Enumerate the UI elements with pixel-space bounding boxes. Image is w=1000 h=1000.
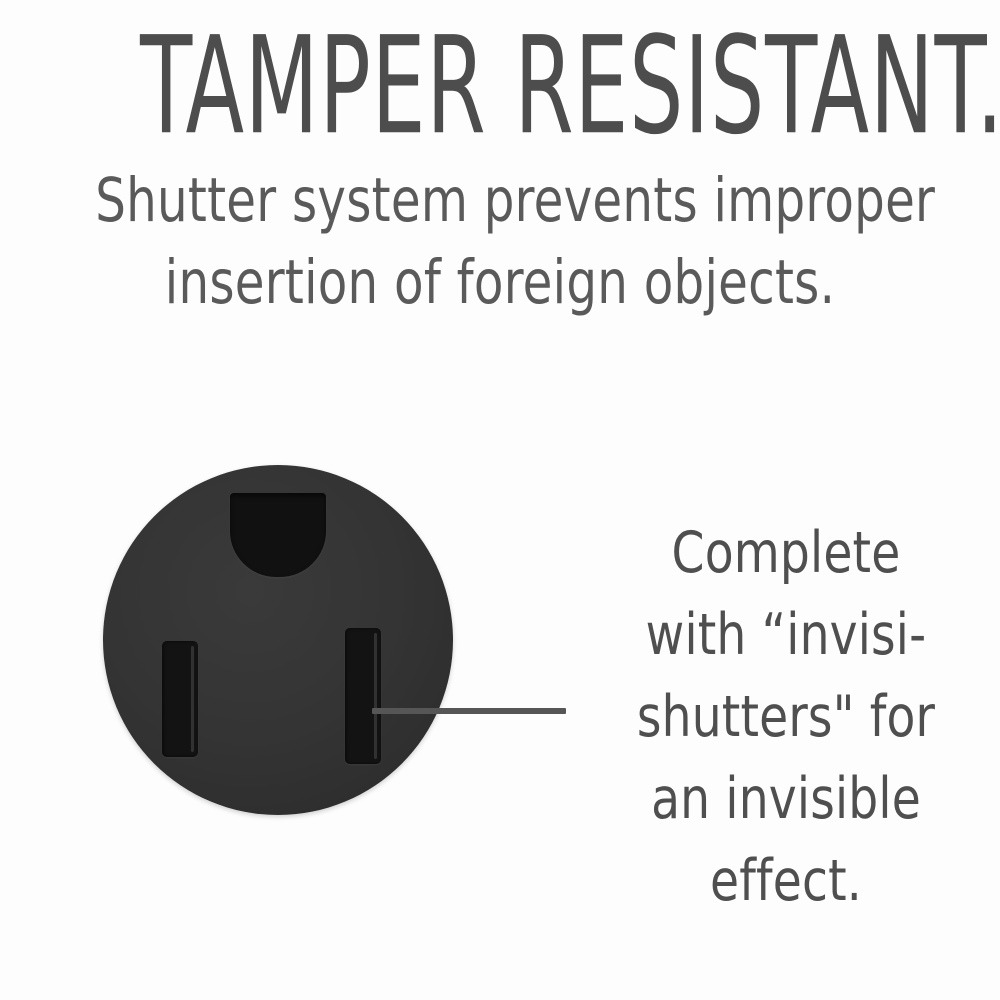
hot-slot-icon [345,628,381,764]
subtitle-line-2: insertion of foreign objects. [95,242,905,324]
page-title: TAMPER RESISTANT. [140,18,860,155]
invisi-shutter-icon [374,633,377,759]
callout-leader-line [372,708,566,714]
caption-line-2: with “invisi- [615,594,957,676]
callout-caption-block: Complete with “invisi- shutters" for an … [615,512,957,922]
ground-slot-icon [230,493,326,577]
invisi-shutter-icon [191,646,194,752]
caption-line-4: an invisible [615,758,957,840]
neutral-slot-icon [162,641,198,757]
feature-graphic-canvas: TAMPER RESISTANT. Shutter system prevent… [0,0,1000,1000]
subtitle-block: Shutter system prevents improper inserti… [95,160,905,324]
outlet-face-icon [103,465,453,815]
outlet-illustration [100,462,456,818]
caption-line-3: shutters" for [615,676,957,758]
caption-line-5: effect. [615,840,957,922]
subtitle-line-1: Shutter system prevents improper [95,160,905,242]
caption-line-1: Complete [615,512,957,594]
